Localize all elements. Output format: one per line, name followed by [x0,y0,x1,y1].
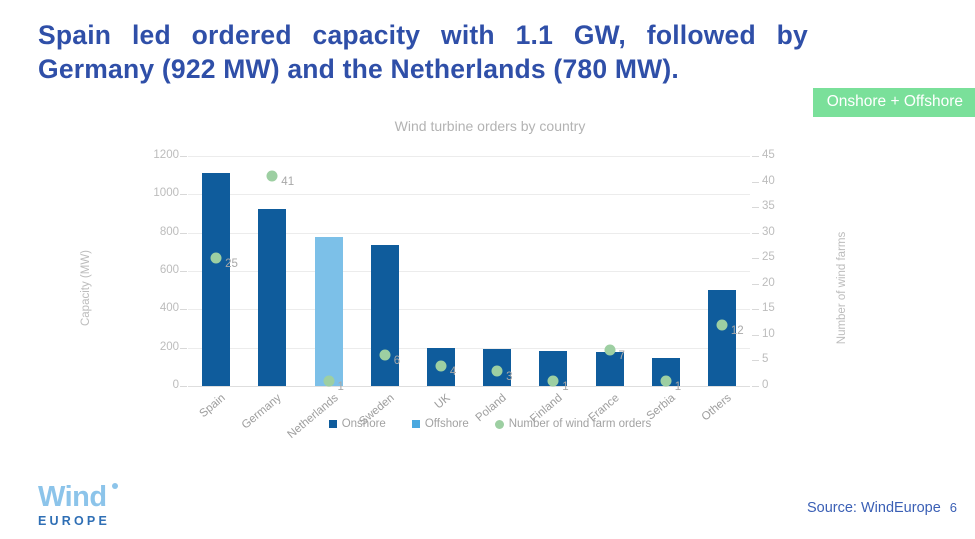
y-axis-left-tick-label: 1200 [153,150,179,162]
y-axis-left-tick-mark [180,233,187,234]
y-axis-left-tick-mark [180,309,187,310]
y-axis-right-title: Number of wind farms [836,232,848,344]
marker-label-france: 7 [619,350,625,362]
y-axis-right-tick-label: 15 [762,303,775,315]
marker-label-sweden: 6 [394,355,400,367]
logo-dot-icon [112,483,118,489]
source-text: Source: WindEurope [807,500,941,516]
y-axis-right-tick-mark [752,335,759,336]
legend-square-icon [329,420,337,428]
chart-title: Wind turbine orders by country [140,118,840,134]
marker-dot-serbia [660,375,671,386]
legend-circle-icon [495,420,504,429]
y-axis-right-tick-mark [752,207,759,208]
headline-line-1: Spain led ordered capacity with 1.1 GW, … [38,18,808,52]
y-axis-left-title: Capacity (MW) [80,250,92,326]
y-axis-left-tick-mark [180,386,187,387]
logo-subtitle: EUROPE [38,514,110,528]
slide-root: Spain led ordered capacity with 1.1 GW, … [0,0,975,539]
y-axis-right-tick-label: 25 [762,252,775,264]
y-axis-left-tick-label: 1000 [153,188,179,200]
chart-legend: OnshoreOffshoreNumber of wind farm order… [140,418,840,430]
marker-dot-spain [211,253,222,264]
y-axis-left-tick-label: 0 [173,380,179,392]
y-axis-right-tick-label: 40 [762,176,775,188]
legend-label: Number of wind farm orders [509,418,652,430]
page-title: Spain led ordered capacity with 1.1 GW, … [38,18,808,86]
marker-dot-netherlands [323,375,334,386]
marker-label-netherlands: 1 [338,381,344,393]
marker-label-finland: 1 [562,381,568,393]
y-axis-right-tick-label: 10 [762,329,775,341]
y-axis-right-tick-mark [752,309,759,310]
marker-dot-france [604,345,615,356]
y-axis-left-tick-mark [180,194,187,195]
marker-label-poland: 3 [506,371,512,383]
gridline-horizontal [188,194,750,195]
y-axis-left-tick-label: 200 [160,342,179,354]
gridline-horizontal [188,156,750,157]
y-axis-left-tick-mark [180,156,187,157]
y-axis-right-tick-mark [752,258,759,259]
logo-word-text: Wind [38,481,107,513]
marker-dot-sweden [379,350,390,361]
marker-label-others: 12 [731,325,744,337]
y-axis-right-tick-mark [752,182,759,183]
marker-label-uk: 4 [450,366,456,378]
source-note: Source: WindEurope6 [807,500,957,516]
y-axis-right-tick-mark [752,233,759,234]
brand-logo: Wind EUROPE [38,482,110,528]
legend-item-offshore[interactable]: Offshore [412,418,469,430]
marker-dot-others [716,319,727,330]
marker-label-spain: 25 [225,258,238,270]
y-axis-left-tick-label: 800 [160,227,179,239]
y-axis-right-tick-label: 45 [762,150,775,162]
y-axis-left-tick-mark [180,348,187,349]
bar-onshore-others [708,290,736,386]
bar-onshore-germany [258,209,286,386]
logo-wordmark: Wind [38,482,107,512]
legend-square-icon [412,420,420,428]
y-axis-right-tick-mark [752,386,759,387]
y-axis-right-tick-mark [752,284,759,285]
y-axis-right-tick-mark [752,360,759,361]
y-axis-right-tick-label: 30 [762,227,775,239]
headline-line-2: Germany (922 MW) and the Netherlands (78… [38,52,808,86]
status-badge: Onshore + Offshore [813,88,975,117]
bar-onshore-spain [202,173,230,386]
y-axis-right-tick-label: 35 [762,201,775,213]
marker-label-germany: 41 [281,176,294,188]
plot-area: 0200400600800100012000510152025303540452… [188,156,750,386]
legend-label: Offshore [425,418,469,430]
y-axis-right-tick-mark [752,156,759,157]
bar-offshore-netherlands [315,237,343,387]
marker-dot-finland [548,375,559,386]
y-axis-right-tick-label: 20 [762,278,775,290]
marker-dot-uk [435,360,446,371]
legend-label: Onshore [342,418,386,430]
y-axis-right-tick-label: 5 [762,354,768,366]
y-axis-left-tick-mark [180,271,187,272]
legend-item-onshore[interactable]: Onshore [329,418,386,430]
marker-label-serbia: 1 [675,381,681,393]
marker-dot-germany [267,171,278,182]
y-axis-left-tick-label: 400 [160,303,179,315]
chart-container: Wind turbine orders by country Capacity … [140,118,840,458]
marker-dot-poland [492,365,503,376]
y-axis-right-tick-label: 0 [762,380,768,392]
legend-item-number-of-wind-farm-orders[interactable]: Number of wind farm orders [495,418,652,430]
page-number: 6 [950,500,957,515]
y-axis-left-tick-label: 600 [160,265,179,277]
